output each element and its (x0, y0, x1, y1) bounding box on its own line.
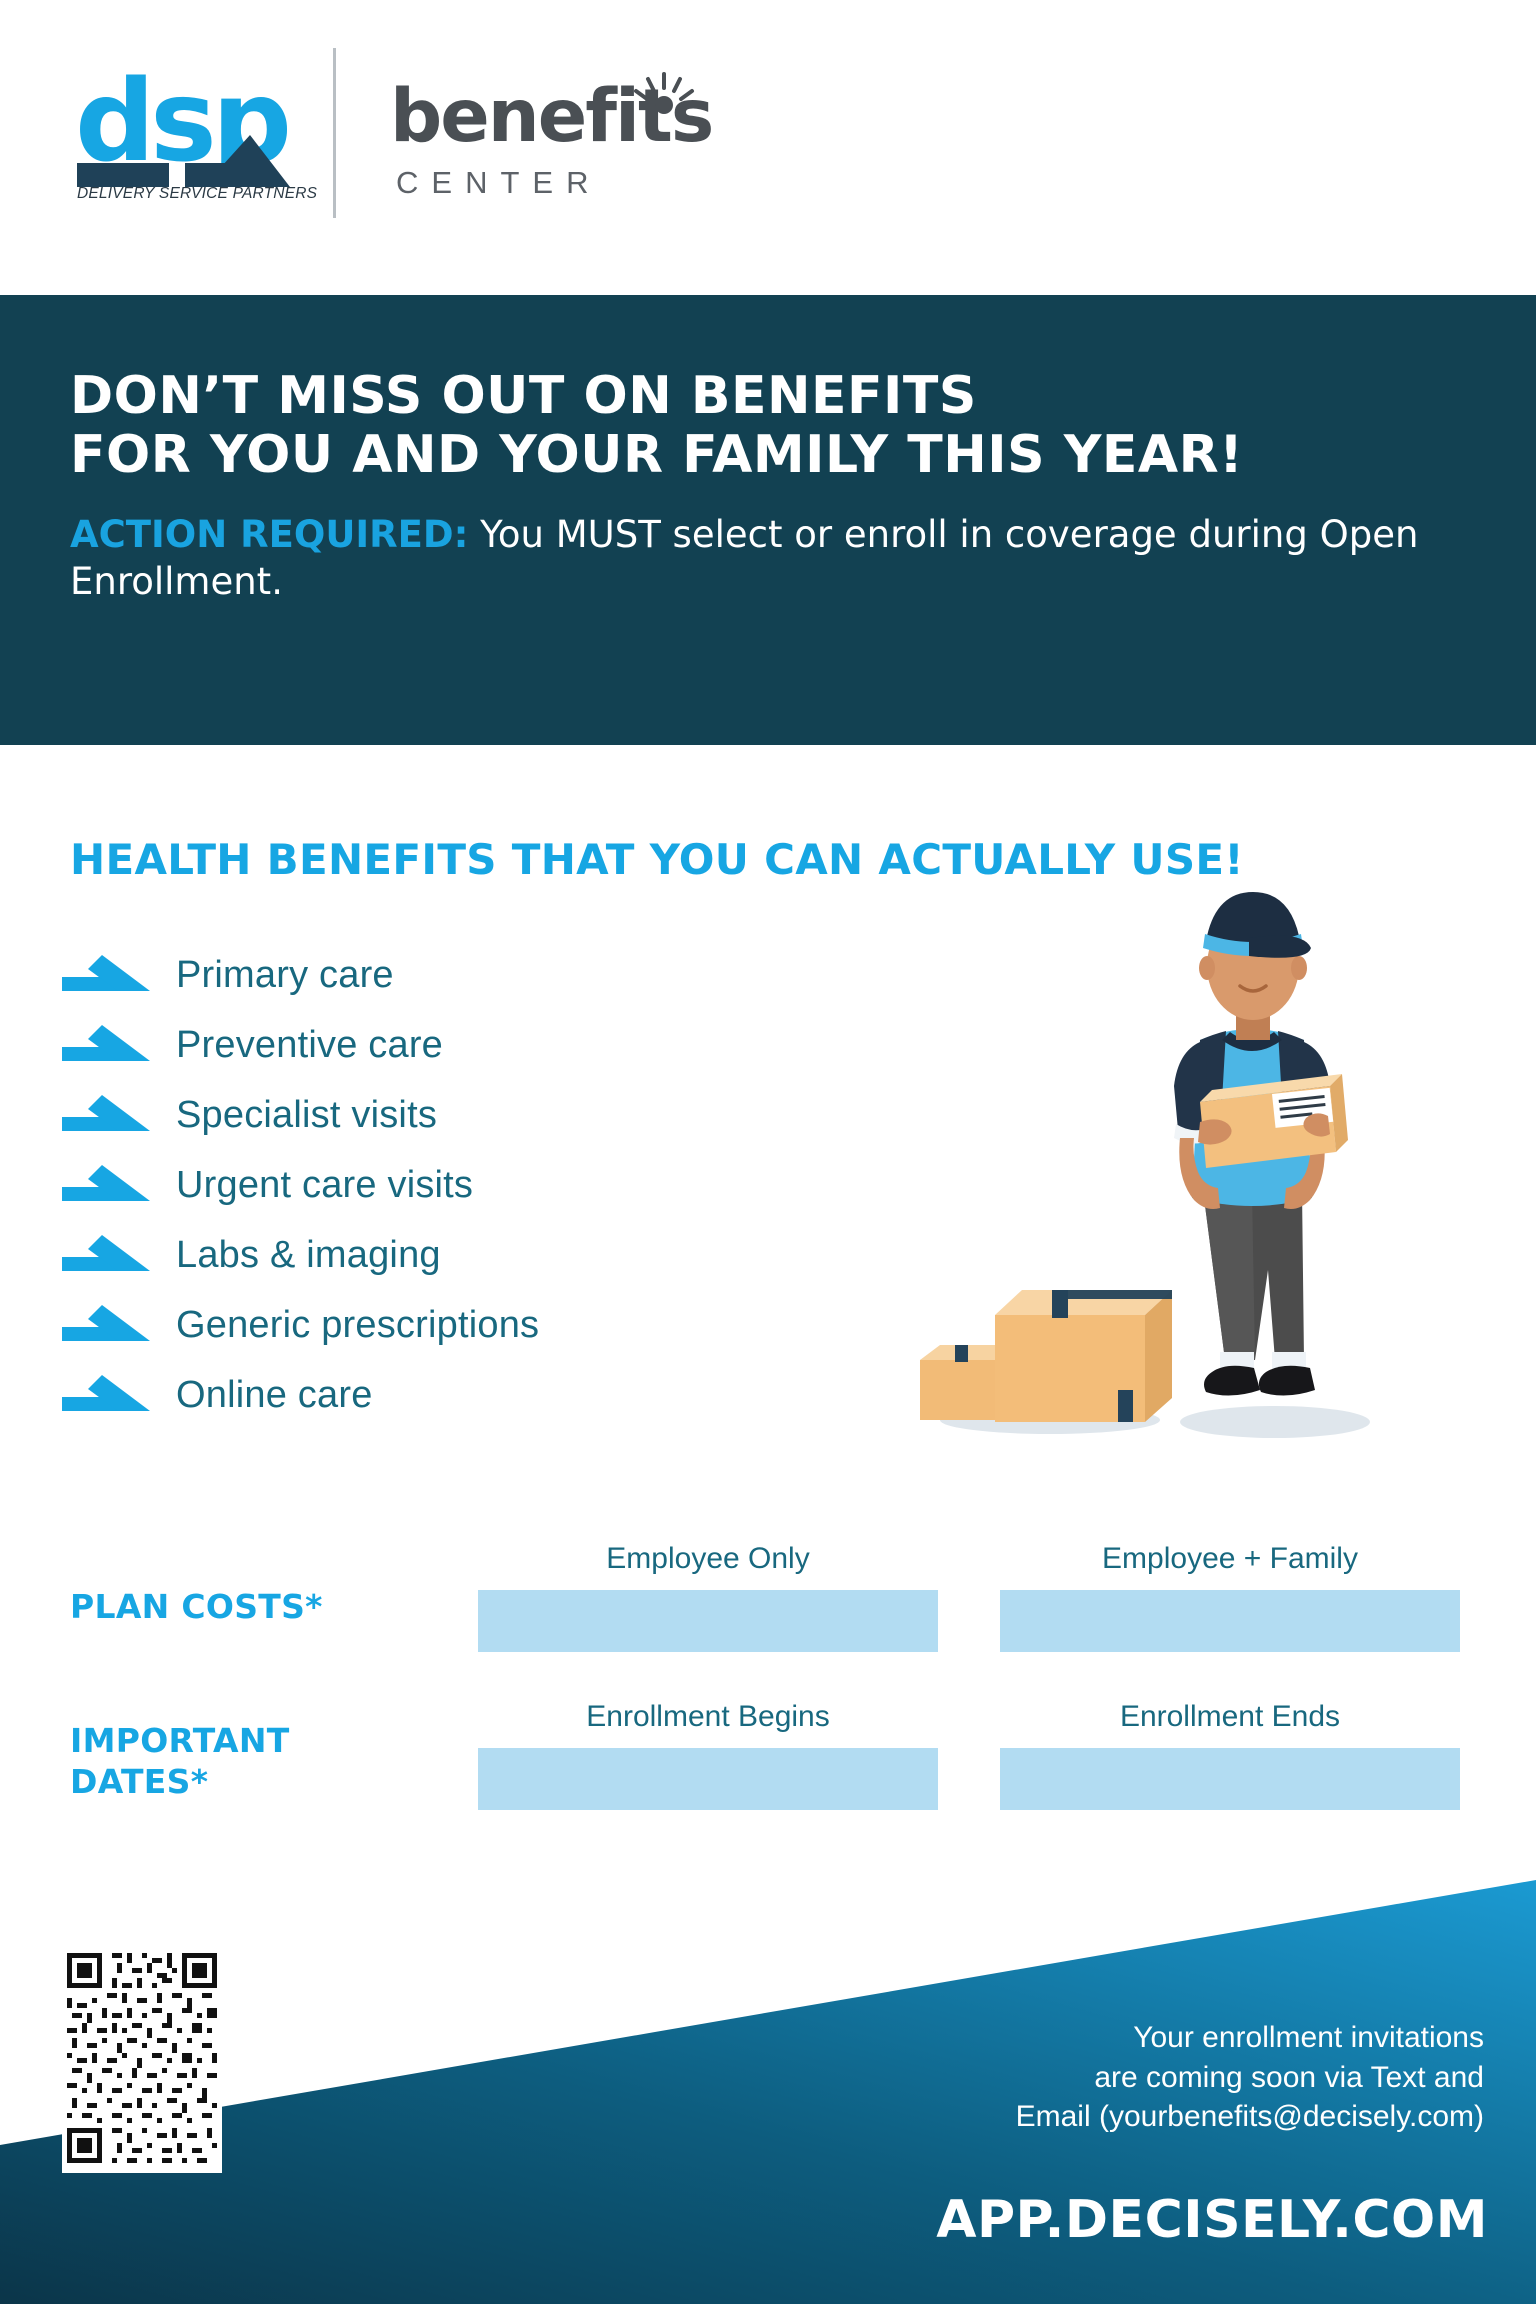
list-item-label: Specialist visits (176, 1094, 437, 1137)
logo-header: dsp DELIVERY SERVICE PARTNERS benefits C… (0, 0, 1536, 295)
enrollment-ends-value[interactable] (1000, 1748, 1460, 1810)
column-header-employee-family: Employee + Family (1000, 1542, 1460, 1576)
arrow-right-icon (62, 1015, 154, 1076)
enrollment-qr-code[interactable] (62, 1948, 222, 2173)
center-wordmark: CENTER (396, 165, 601, 201)
banner-headline: DON’T MISS OUT ON BENEFITS FOR YOU AND Y… (70, 367, 1466, 485)
headline-line-2: FOR YOU AND YOUR FAMILY THIS YEAR! (70, 425, 1243, 485)
list-item: Preventive care (62, 1010, 822, 1080)
dsp-logo: dsp DELIVERY SERVICE PARTNERS (75, 55, 295, 220)
list-item: Specialist visits (62, 1080, 822, 1150)
delivery-person-with-boxes-illustration (900, 890, 1420, 1470)
list-item-label: Labs & imaging (176, 1234, 441, 1277)
footer-note-line-2: are coming soon via Text and (1094, 2061, 1484, 2094)
benefits-center-logo: benefits CENTER (390, 50, 790, 220)
list-item: Online care (62, 1360, 822, 1430)
footer-note-line-3: Email (yourbenefits@decisely.com) (1016, 2100, 1484, 2133)
dsp-tagline: DELIVERY SERVICE PARTNERS (77, 185, 317, 203)
benefits-list: Primary care Preventive care Specialist … (62, 940, 822, 1430)
list-item: Labs & imaging (62, 1220, 822, 1290)
list-item: Generic prescriptions (62, 1290, 822, 1360)
sparkle-icon (628, 72, 700, 137)
action-required-label: ACTION REQUIRED: (70, 513, 468, 556)
arrow-right-icon (62, 1225, 154, 1286)
benefits-section-heading: HEALTH BENEFITS THAT YOU CAN ACTUALLY US… (70, 835, 1244, 884)
headline-line-1: DON’T MISS OUT ON BENEFITS (70, 366, 977, 426)
footer-enrollment-note: Your enrollment invitations are coming s… (844, 2018, 1484, 2137)
list-item-label: Primary care (176, 954, 394, 997)
column-header-enrollment-ends: Enrollment Ends (1000, 1700, 1460, 1734)
column-header-enrollment-begins: Enrollment Begins (478, 1700, 938, 1734)
arrow-right-icon (62, 1155, 154, 1216)
list-item-label: Urgent care visits (176, 1164, 473, 1207)
footer-note-line-1: Your enrollment invitations (1133, 2021, 1484, 2054)
plan-cost-employee-family-value[interactable] (1000, 1590, 1460, 1652)
headline-banner: DON’T MISS OUT ON BENEFITS FOR YOU AND Y… (0, 295, 1536, 745)
list-item-label: Preventive care (176, 1024, 443, 1067)
list-item-label: Online care (176, 1374, 373, 1417)
plan-cost-employee-only-value[interactable] (478, 1590, 938, 1652)
important-dates-row-label: IMPORTANT DATES* (70, 1720, 360, 1803)
arrow-right-icon (62, 1085, 154, 1146)
list-item-label: Generic prescriptions (176, 1304, 539, 1347)
enrollment-begins-value[interactable] (478, 1748, 938, 1810)
arrow-right-icon (62, 1365, 154, 1426)
list-item: Primary care (62, 940, 822, 1010)
logo-divider (333, 48, 336, 218)
arrow-right-icon (62, 945, 154, 1006)
footer-app-url[interactable]: APP.DECISELY.COM (936, 2190, 1488, 2250)
plan-costs-row-label: PLAN COSTS* (70, 1586, 360, 1627)
benefits-flyer-page: dsp DELIVERY SERVICE PARTNERS benefits C… (0, 0, 1536, 2304)
arrow-right-icon (62, 1295, 154, 1356)
action-required-text: ACTION REQUIRED: You MUST select or enro… (70, 511, 1466, 606)
list-item: Urgent care visits (62, 1150, 822, 1220)
column-header-employee-only: Employee Only (478, 1542, 938, 1576)
